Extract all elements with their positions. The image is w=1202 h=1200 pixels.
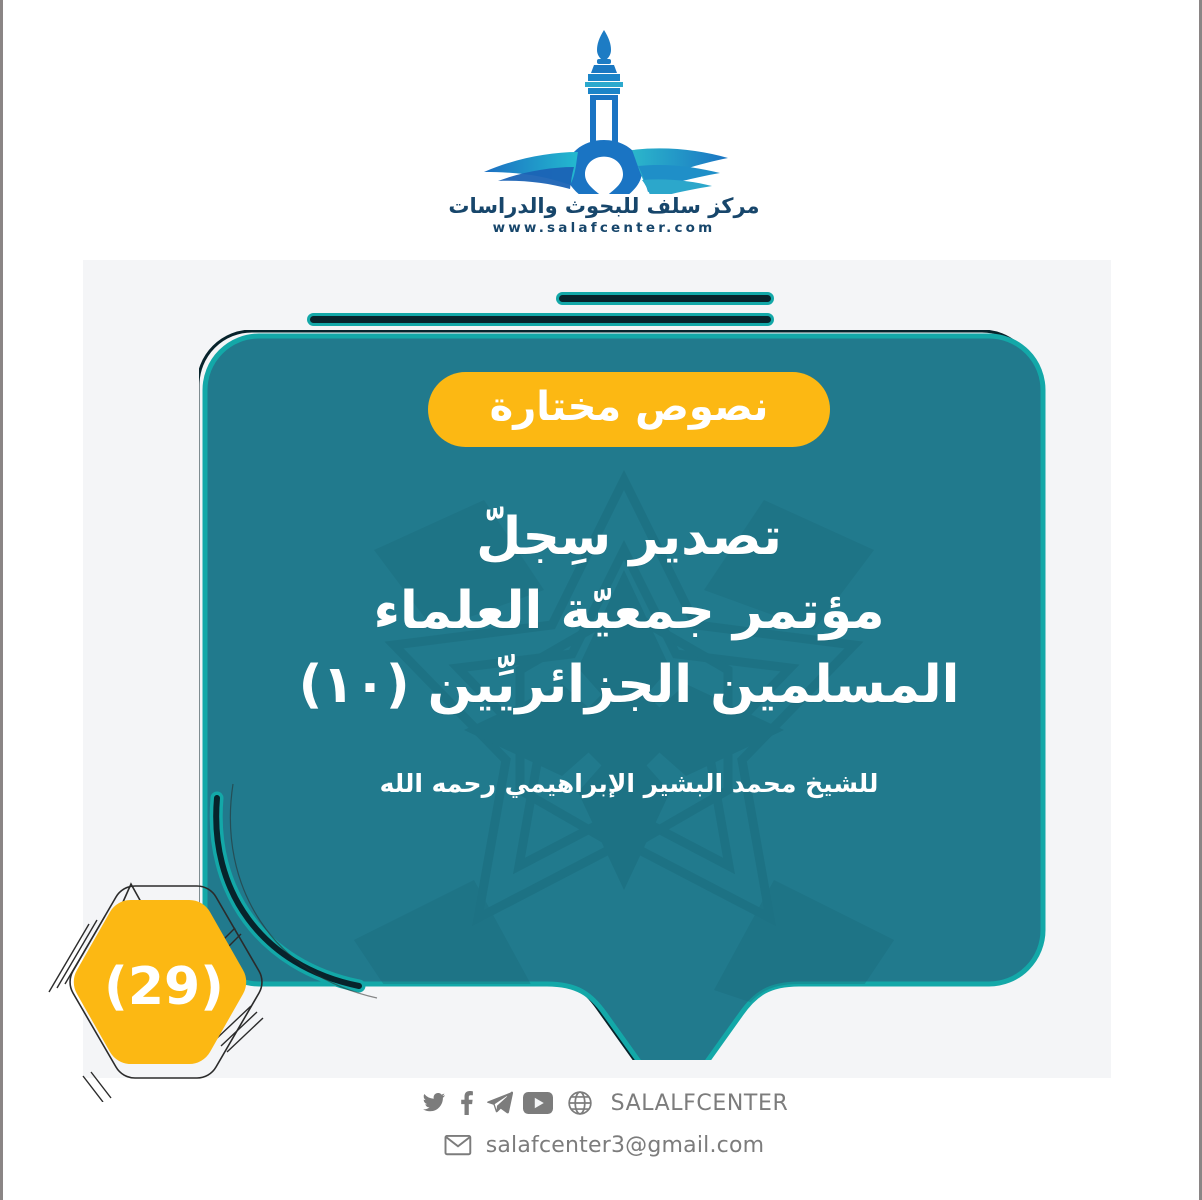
globe-icon[interactable]: [567, 1090, 593, 1116]
youtube-icon[interactable]: [523, 1092, 553, 1114]
minaret-book-logo-icon: [470, 26, 738, 194]
footer-social-row: SALALFCENTER: [420, 1084, 789, 1122]
brand-logo-block: مركز سلف للبحوث والدراسات www.salafcente…: [3, 26, 1202, 246]
number-badge[interactable]: (29): [39, 872, 283, 1102]
footer-handle: SALALFCENTER: [611, 1091, 789, 1116]
envelope-icon[interactable]: [444, 1134, 472, 1156]
decor-bar-second: [310, 316, 771, 323]
brand-name: مركز سلف للبحوث والدراسات: [448, 196, 759, 217]
category-badge[interactable]: نصوص مختارة: [428, 372, 831, 447]
footer-email-row: salafcenter3@gmail.com: [444, 1126, 765, 1164]
telegram-icon[interactable]: [485, 1091, 513, 1115]
brand-url: www.salafcenter.com: [493, 222, 716, 236]
poster-canvas: مركز سلف للبحوث والدراسات www.salafcente…: [0, 0, 1202, 1200]
number-badge-label: (29): [39, 872, 283, 1102]
footer-email: salafcenter3@gmail.com: [486, 1133, 765, 1158]
facebook-icon[interactable]: [458, 1091, 475, 1115]
footer: SALALFCENTER salafcenter3@gmail.com: [3, 1084, 1202, 1164]
twitter-icon[interactable]: [420, 1091, 448, 1115]
decor-bar-top: [559, 295, 771, 302]
